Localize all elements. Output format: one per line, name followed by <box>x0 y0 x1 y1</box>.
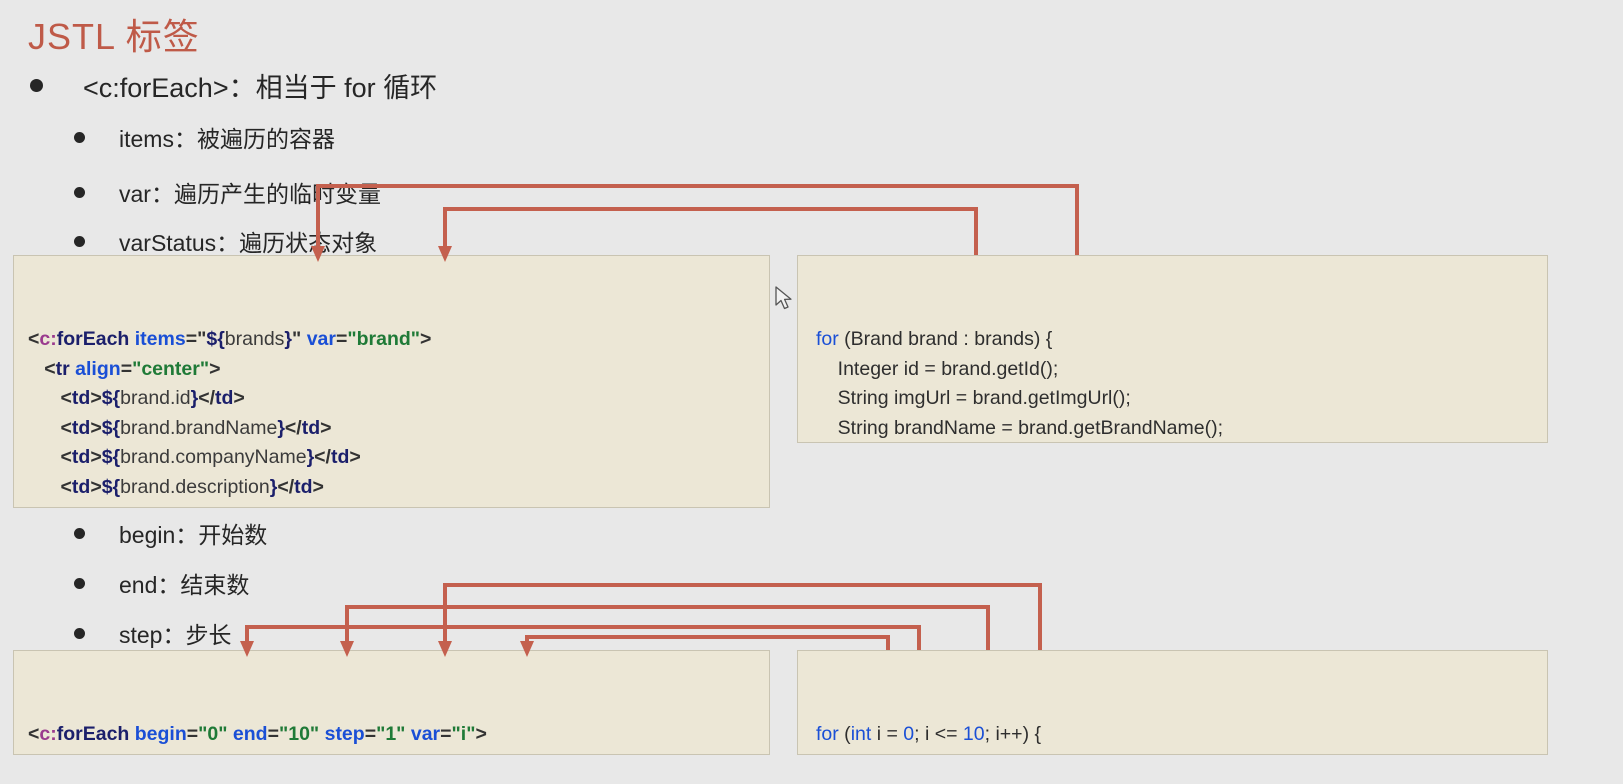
bullet-dot-icon <box>74 236 85 247</box>
code-block-jsp-foreach-collection: <c:forEach items="${brands}" var="brand"… <box>13 255 770 508</box>
bullet-step: step：步长 <box>74 616 231 650</box>
code-content: <c:forEach begin="0" end="10" step="1" v… <box>14 710 769 755</box>
code-block-java-classic-for: for (int i = 0; i <= 10; i++) { System.o… <box>797 650 1548 755</box>
bullet-foreach: <c:forEach>：相当于 for 循环 <box>30 66 437 105</box>
bullet-var: var：遍历产生的临时变量 <box>74 175 381 209</box>
bullet-dot-icon <box>74 528 85 539</box>
code-content: for (Brand brand : brands) { Integer id … <box>798 315 1547 443</box>
bullet-dot-icon <box>74 132 85 143</box>
slide-canvas: JSTL 标签 <c:forEach>：相当于 for 循环 items：被遍历… <box>0 0 1623 784</box>
bullet-dot-icon <box>74 628 85 639</box>
bullet-dot-icon <box>74 187 85 198</box>
code-block-java-enhanced-for: for (Brand brand : brands) { Integer id … <box>797 255 1548 443</box>
code-content: <c:forEach items="${brands}" var="brand"… <box>14 315 769 508</box>
bullet-dot-icon <box>30 79 43 92</box>
bullet-end: end：结束数 <box>74 566 249 600</box>
bullet-varstatus: varStatus：遍历状态对象 <box>74 224 377 258</box>
bullet-begin: begin：开始数 <box>74 516 267 550</box>
bullet-dot-icon <box>74 578 85 589</box>
bullet-items: items：被遍历的容器 <box>74 120 335 154</box>
code-content: for (int i = 0; i <= 10; i++) { System.o… <box>798 710 1547 755</box>
mouse-cursor-icon <box>775 286 795 312</box>
page-title: JSTL 标签 <box>28 8 200 60</box>
connector-begin-to-init <box>438 585 1040 657</box>
connector-var-to-brand <box>311 186 1077 262</box>
code-block-jsp-foreach-counter: <c:forEach begin="0" end="10" step="1" v… <box>13 650 770 755</box>
